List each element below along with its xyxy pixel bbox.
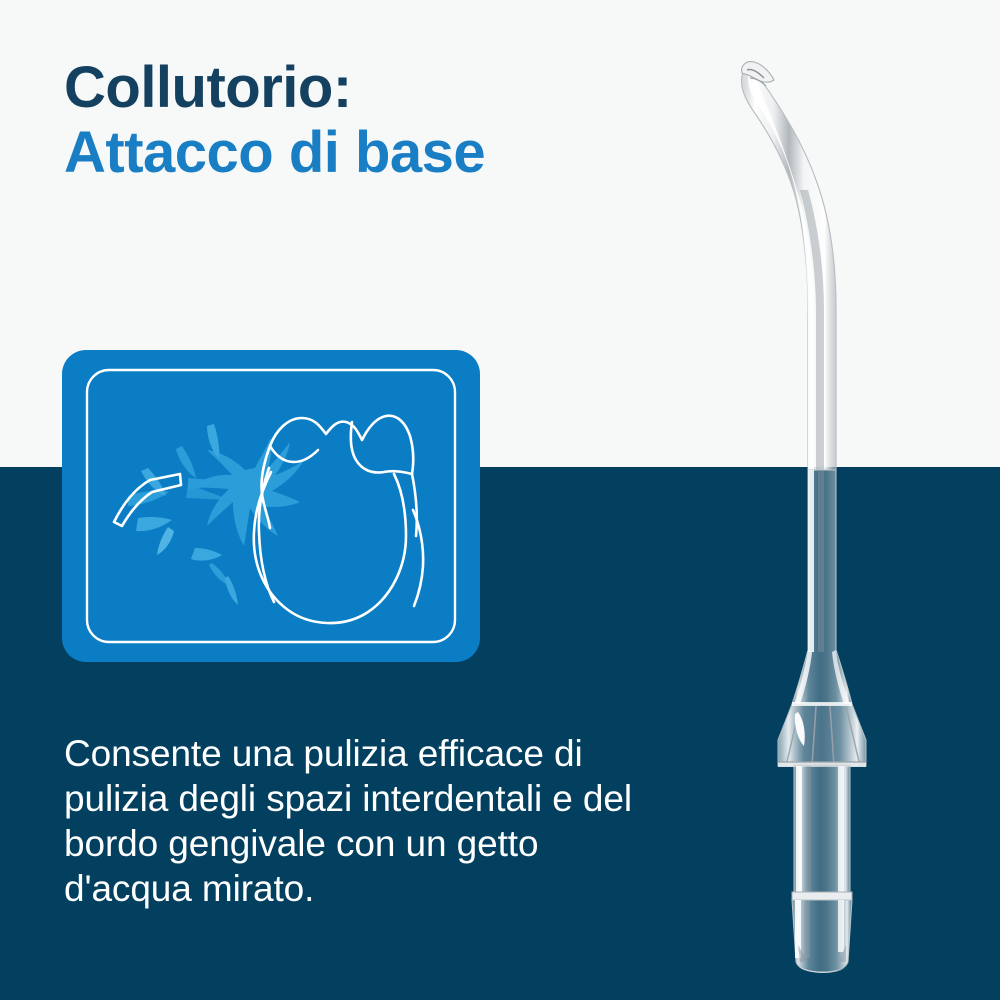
headline-line-2: Attacco di base	[64, 121, 704, 186]
feature-icon-card	[62, 350, 480, 662]
description-line-1: Consente una pulizia efficace di	[64, 731, 764, 776]
feature-description: Consente una pulizia efficace di pulizia…	[64, 731, 764, 912]
promo-graphic: Collutorio: Attacco di base	[0, 0, 1000, 1000]
tooth-outline-icon	[254, 416, 423, 623]
description-line-4: d'acqua mirato.	[64, 866, 764, 911]
description-line-2: pulizia degli spazi interdentali e del	[64, 776, 764, 821]
water-splash-icon	[128, 424, 304, 605]
water-jet-tooth-icon	[62, 350, 480, 662]
description-line-3: bordo gengivale con un getto	[64, 821, 764, 866]
page-title: Collutorio: Attacco di base	[64, 56, 704, 186]
headline-line-1: Collutorio:	[64, 56, 704, 121]
